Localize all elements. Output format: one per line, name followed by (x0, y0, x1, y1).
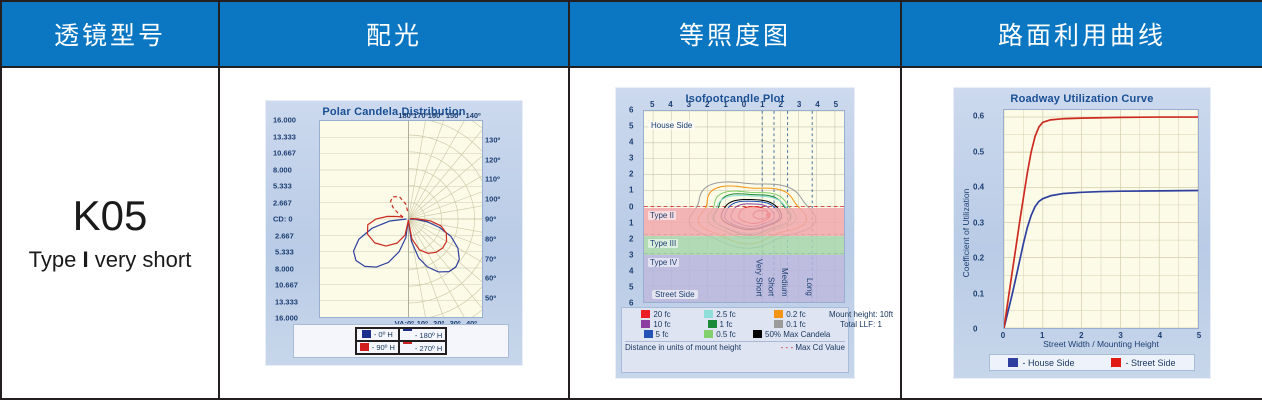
iso-band-label-2: Type IV (648, 258, 679, 267)
iso-legend-footer: Distance in units of mount height - - - … (625, 341, 845, 352)
iso-xtick-3: 2 (705, 100, 709, 109)
iso-marker-short: Short (766, 277, 775, 296)
legend-item-90h: - 90º H (356, 341, 399, 354)
iso-legend-label-8: 50% Max Candela (765, 330, 830, 339)
iso-legend-item-7: 0.5 fc (689, 330, 751, 339)
polar-top-angle-3: 150º (446, 111, 461, 120)
iso-plot-area: Type IIType IIIType IV House Side Street… (643, 110, 845, 303)
iso-legend-note-1: Total LLF: 1 (829, 320, 893, 329)
header-lens-model: 透镜型号 (1, 1, 219, 67)
polar-ytick-2: 10.667 (273, 149, 296, 158)
road-ytick-2: 0.2 (973, 254, 984, 263)
legend-swatch-90h (360, 343, 369, 351)
iso-xtick-7: 2 (778, 100, 782, 109)
iso-legend-label-7: 0.5 fc (716, 330, 736, 339)
polar-top-angle-1: 170º (413, 111, 428, 120)
iso-legend-swatch-4 (708, 320, 717, 328)
iso-legend-item-3: 10 fc (625, 320, 687, 329)
iso-xtick-10: 5 (834, 100, 838, 109)
iso-ytick-7: 1 (629, 218, 633, 227)
iso-legend-label-0: 20 fc (653, 310, 670, 319)
iso-legend-swatch-5 (774, 320, 783, 328)
legend-label-0h: - 0º H (374, 330, 393, 339)
road-ytick-3: 0.3 (973, 218, 984, 227)
road-plot-area (1003, 109, 1199, 329)
header-roadway-utilization: 路面利用曲线 (901, 1, 1262, 67)
polar-top-angle-0: 180º (398, 111, 413, 120)
cell-light-distribution: Polar Candela Distribution 16.00013.3331… (219, 67, 569, 399)
road-ytick-5: 0.5 (973, 147, 984, 156)
iso-xtick-4: 1 (723, 100, 727, 109)
model-type-prefix: Type (29, 247, 83, 272)
road-y-axis-title: Coefficient of Utilization (961, 189, 971, 278)
legend-swatch-270h (403, 342, 412, 352)
polar-ytick-0: 16.000 (273, 116, 296, 125)
iso-legend-swatch-1 (704, 310, 713, 318)
polar-top-angle-4: 140º (466, 111, 481, 120)
polar-right-angle-0: 130º (485, 135, 500, 144)
polar-right-angle-5: 80º (485, 234, 496, 243)
iso-marker-medium: Medium (780, 268, 789, 296)
polar-right-angle-6: 70º (485, 254, 496, 263)
road-legend-street: - Street Side (1111, 358, 1175, 368)
iso-marker-long: Long (805, 278, 814, 296)
iso-legend-swatch-2 (774, 310, 783, 318)
iso-legend-label-5: 0.1 fc (786, 320, 806, 329)
iso-legend-label-6: 5 fc (656, 330, 669, 339)
iso-legend-label-2: 0.2 fc (786, 310, 806, 319)
cell-lens-model: K05 Type I very short (1, 67, 219, 399)
iso-ytick-2: 4 (629, 138, 633, 147)
iso-legend: 20 fc2.5 fc0.2 fcMount height: 10ft10 fc… (621, 307, 849, 373)
road-ytick-1: 0.1 (973, 289, 984, 298)
iso-max-cd-dash: - - - (781, 343, 793, 352)
legend-swatch-180h (403, 329, 412, 339)
iso-ytick-3: 3 (629, 154, 633, 163)
header-light-distribution: 配光 (219, 1, 569, 67)
road-curves-svg (1004, 110, 1198, 328)
iso-distance-units: Distance in units of mount height (625, 343, 741, 352)
iso-ytick-9: 3 (629, 250, 633, 259)
iso-legend-item-2: 0.2 fc (753, 310, 827, 319)
polar-plot-svg (320, 121, 482, 317)
polar-ytick-4: 5.333 (273, 182, 292, 191)
polar-ytick-3: 8.000 (273, 165, 292, 174)
isofootcandle-chart: Isofootcandle Plot Type IIType IIIType I… (615, 87, 855, 379)
polar-ytick-5: 2.667 (273, 198, 292, 207)
legend-label-90h: - 90º H (372, 343, 395, 352)
iso-band-label-0: Type II (648, 211, 676, 220)
road-legend-swatch-house (1008, 358, 1018, 367)
iso-ytick-4: 2 (629, 170, 633, 179)
iso-legend-note-0: Mount height: 10ft (829, 310, 893, 319)
iso-xtick-1: 4 (668, 100, 672, 109)
house-side-label: House Side (648, 121, 695, 130)
iso-ytick-11: 5 (629, 282, 633, 291)
polar-right-angle-7: 60º (485, 274, 496, 283)
iso-legend-swatch-6 (644, 330, 653, 338)
iso-xtick-6: 1 (760, 100, 764, 109)
road-ytick-6: 0.6 (973, 112, 984, 121)
iso-legend-label-3: 10 fc (653, 320, 670, 329)
iso-legend-item-6: 5 fc (625, 330, 687, 339)
polar-candela-chart: Polar Candela Distribution 16.00013.3331… (265, 100, 523, 366)
iso-legend-swatch-0 (641, 310, 650, 318)
polar-right-angle-4: 90º (485, 215, 496, 224)
lens-spec-table: 透镜型号 配光 等照度图 路面利用曲线 K05 Type I very shor… (0, 0, 1262, 400)
road-legend-label-house: - House Side (1022, 358, 1074, 368)
iso-xtick-9: 4 (815, 100, 819, 109)
polar-plot-area (319, 120, 483, 318)
iso-ytick-5: 1 (629, 186, 633, 195)
iso-ytick-1: 5 (629, 122, 633, 131)
cell-roadway-utilization: Roadway Utilization Curve Coefficient of… (901, 67, 1262, 399)
iso-legend-item-5: 0.1 fc (753, 320, 827, 329)
legend-item-270h: - 270º H (399, 341, 446, 354)
polar-right-angle-2: 110º (485, 175, 500, 184)
iso-legend-grid: 20 fc2.5 fc0.2 fcMount height: 10ft10 fc… (625, 310, 845, 339)
cell-isofootcandle: Isofootcandle Plot Type IIType IIIType I… (569, 67, 901, 399)
iso-xtick-5: 0 (742, 100, 746, 109)
legend-item-0h: - 0º H (356, 328, 399, 341)
iso-legend-note-2 (829, 330, 893, 339)
polar-top-angle-2: 160º (428, 111, 443, 120)
legend-label-180h: - 180º H (415, 331, 442, 340)
table-header-row: 透镜型号 配光 等照度图 路面利用曲线 (1, 1, 1262, 67)
iso-ytick-0: 6 (629, 106, 633, 115)
road-ytick-0: 0 (973, 325, 977, 334)
iso-legend-item-4: 1 fc (689, 320, 751, 329)
road-legend-house: - House Side (1008, 358, 1074, 368)
roadway-utilization-chart: Roadway Utilization Curve Coefficient of… (953, 87, 1211, 379)
iso-legend-swatch-3 (641, 320, 650, 328)
iso-xtick-8: 3 (797, 100, 801, 109)
header-isofootcandle: 等照度图 (569, 1, 901, 67)
iso-legend-item-0: 20 fc (625, 310, 687, 319)
road-legend-swatch-street (1111, 358, 1121, 367)
iso-xtick-2: 3 (687, 100, 691, 109)
iso-legend-swatch-7 (704, 330, 713, 338)
table-row: K05 Type I very short Polar Candela Dist… (1, 67, 1262, 399)
road-chart-title: Roadway Utilization Curve (959, 93, 1205, 105)
legend-label-270h: - 270º H (415, 344, 442, 353)
iso-band-label-1: Type III (648, 239, 678, 248)
model-type-suffix: very short (89, 247, 192, 272)
iso-legend-label-1: 2.5 fc (716, 310, 736, 319)
iso-legend-item-1: 2.5 fc (689, 310, 751, 319)
road-ytick-4: 0.4 (973, 183, 984, 192)
iso-legend-item-8: 50% Max Candela (753, 330, 827, 339)
polar-right-angle-1: 120º (485, 155, 500, 164)
street-side-label: Street Side (652, 290, 698, 299)
iso-legend-swatch-8 (753, 330, 762, 338)
iso-legend-label-4: 1 fc (720, 320, 733, 329)
iso-ytick-10: 4 (629, 266, 633, 275)
road-x-axis-title: Street Width / Mounting Height (1003, 339, 1199, 349)
road-legend: - House Side - Street Side (989, 354, 1195, 371)
road-legend-label-street: - Street Side (1125, 358, 1175, 368)
iso-xtick-0: 5 (650, 100, 654, 109)
legend-swatch-0h (362, 330, 371, 338)
polar-right-angle-8: 50º (485, 294, 496, 303)
legend-item-180h: - 180º H (399, 328, 446, 341)
polar-right-angle-3: 100º (485, 195, 500, 204)
iso-max-cd: - - - Max Cd Value (781, 343, 845, 352)
iso-marker-very-short: Very Short (754, 259, 763, 296)
polar-ytick-1: 13.333 (273, 132, 296, 141)
polar-legend: - 0º H - 180º H - 90º H - 270º H (293, 324, 509, 358)
model-code: K05 (2, 194, 218, 238)
iso-ytick-6: 0 (629, 202, 633, 211)
iso-max-cd-label: Max Cd Value (795, 343, 845, 352)
iso-ytick-8: 2 (629, 234, 633, 243)
model-type: Type I very short (2, 248, 218, 272)
